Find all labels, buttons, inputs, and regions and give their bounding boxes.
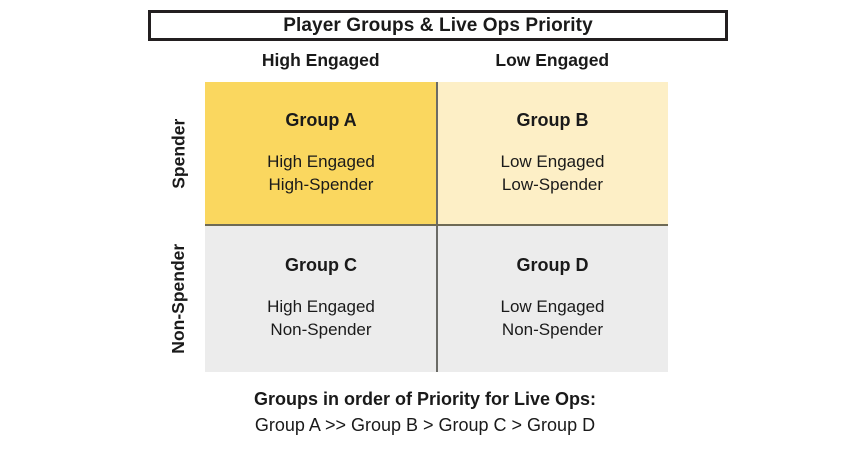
footer-heading: Groups in order of Priority for Live Ops… <box>0 388 850 411</box>
quadrant-desc-line1-group-c: High Engaged <box>267 296 375 318</box>
column-header-row: High Engaged Low Engaged <box>205 45 668 75</box>
row-label-non-spender: Non-Spender <box>155 225 203 372</box>
row-label-spender: Spender <box>155 82 203 225</box>
matrix-vertical-divider <box>436 82 438 372</box>
quadrant-desc-group-b: Low Engaged Low-Spender <box>501 151 605 196</box>
quadrant-desc-line2-group-b: Low-Spender <box>501 174 605 196</box>
matrix-horizontal-divider <box>205 224 668 226</box>
column-header-low-engaged: Low Engaged <box>437 45 669 75</box>
quadrant-title-group-b: Group B <box>517 111 589 129</box>
quadrant-desc-line2-group-c: Non-Spender <box>267 319 375 341</box>
quadrant-desc-line2-group-a: High-Spender <box>267 174 375 196</box>
quadrant-title-group-a: Group A <box>285 111 356 129</box>
row-label-non-spender-text: Non-Spender <box>170 244 188 354</box>
footer-priority-order: Group A >> Group B > Group C > Group D <box>0 414 850 437</box>
quadrant-desc-line2-group-d: Non-Spender <box>501 319 605 341</box>
quadrant-desc-line1-group-a: High Engaged <box>267 151 375 173</box>
quadrant-desc-group-d: Low Engaged Non-Spender <box>501 296 605 341</box>
quadrant-cell-group-b[interactable]: Group B Low Engaged Low-Spender <box>437 82 668 225</box>
quadrant-cell-group-c[interactable]: Group C High Engaged Non-Spender <box>205 225 437 372</box>
row-label-spender-text: Spender <box>170 118 188 188</box>
quadrant-cell-group-a[interactable]: Group A High Engaged High-Spender <box>205 82 437 225</box>
quadrant-desc-line1-group-b: Low Engaged <box>501 151 605 173</box>
quadrant-title-group-d: Group D <box>517 256 589 274</box>
column-header-high-engaged: High Engaged <box>205 45 437 75</box>
footer: Groups in order of Priority for Live Ops… <box>0 388 850 437</box>
quadrant-cell-group-d[interactable]: Group D Low Engaged Non-Spender <box>437 225 668 372</box>
quadrant-desc-line1-group-d: Low Engaged <box>501 296 605 318</box>
quadrant-desc-group-c: High Engaged Non-Spender <box>267 296 375 341</box>
title-box: Player Groups & Live Ops Priority <box>148 10 728 41</box>
quadrant-desc-group-a: High Engaged High-Spender <box>267 151 375 196</box>
quadrant-title-group-c: Group C <box>285 256 357 274</box>
page-title: Player Groups & Live Ops Priority <box>283 16 593 35</box>
